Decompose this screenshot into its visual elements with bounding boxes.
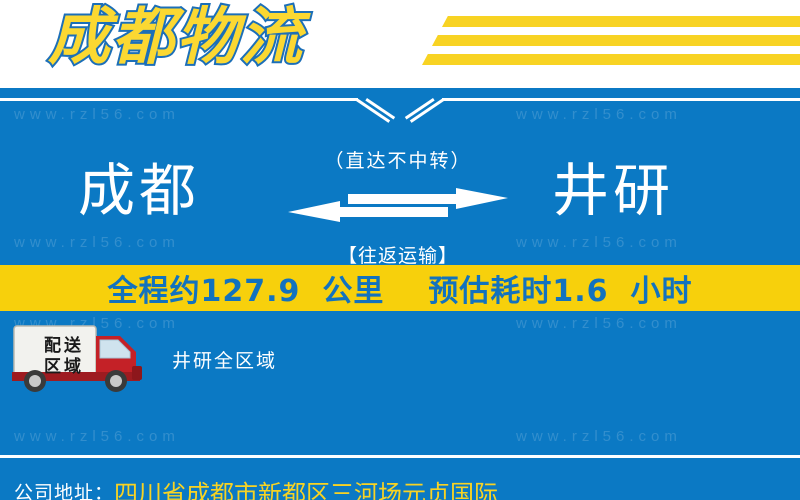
- delivery-truck-icon: 配送 区域: [8, 322, 158, 392]
- footer-divider: [0, 455, 800, 458]
- direct-note: （直达不中转）: [278, 146, 518, 173]
- watermark: www.rzl56.com: [14, 428, 180, 445]
- header-stripes-decoration: [420, 14, 800, 76]
- truck-box-line-2: 区域: [44, 357, 84, 378]
- origin-city: 成都: [78, 154, 200, 228]
- stripe-1: [442, 16, 800, 27]
- trip-info-text: 全程约127.9公里预估耗时1.6小时: [107, 266, 692, 310]
- distance-value: 127.9: [200, 274, 300, 309]
- truck-box-line-1: 配送: [44, 336, 84, 357]
- coverage-area-text: 井研全区域: [172, 346, 277, 373]
- roundtrip-note: 【往返运输】: [278, 241, 518, 268]
- distance-label: 全程约: [107, 274, 200, 309]
- stripe-3: [422, 54, 800, 65]
- footer-address: 公司地址： 四川省成都市新都区三河场元贞国际: [0, 471, 800, 500]
- route-middle: （直达不中转） 【往返运输】: [278, 146, 518, 266]
- trip-info-bar: 全程约127.9公里预估耗时1.6小时: [0, 265, 800, 311]
- stripe-2: [432, 35, 800, 46]
- chevron-down-icon: [355, 97, 445, 131]
- distance-unit: 公里: [322, 274, 384, 309]
- duration-value: 1.6: [552, 274, 608, 309]
- duration-unit: 小时: [631, 274, 693, 309]
- destination-city: 井研: [552, 154, 674, 228]
- poster-header: 成都物流: [0, 0, 800, 88]
- poster-body: www.rzl56.com www.rzl56.com www.rzl56.co…: [0, 88, 800, 500]
- header-divider: [0, 98, 800, 130]
- watermark: www.rzl56.com: [516, 428, 682, 445]
- logistics-poster: 成都物流 www.rzl56.com www.rzl56.com www.rzl…: [0, 0, 800, 500]
- route-row: 成都 （直达不中转） 【往返运输】 井研: [0, 146, 800, 266]
- address-value: 四川省成都市新都区三河场元贞国际: [114, 474, 498, 500]
- truck-box-label: 配送 区域: [28, 334, 100, 380]
- delivery-row: 配送 区域 井研全区域: [0, 320, 800, 400]
- divider-line-right: [442, 98, 800, 101]
- address-label: 公司地址：: [14, 478, 114, 500]
- brand-title: 成都物流: [48, 2, 304, 72]
- divider-line-left: [0, 98, 358, 101]
- duration-label: 预估耗时: [428, 274, 552, 309]
- bidirectional-arrow-icon: [288, 188, 508, 222]
